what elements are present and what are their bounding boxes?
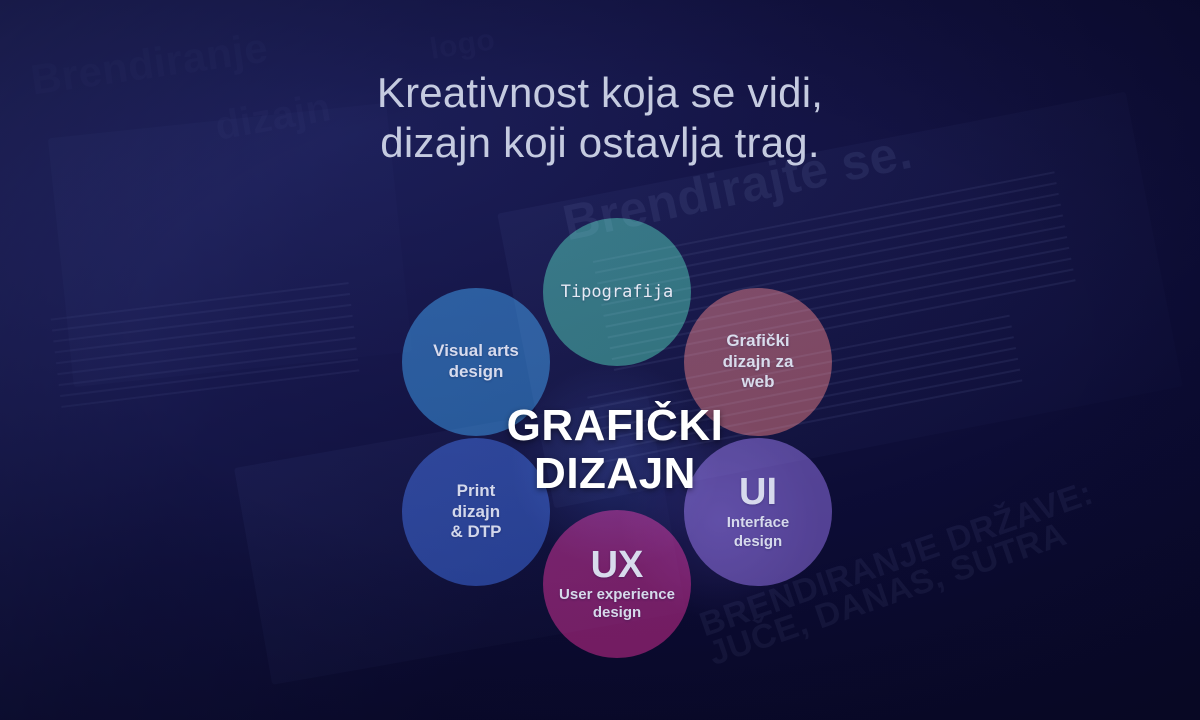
print-line-2: dizajn bbox=[452, 502, 500, 521]
venn-cluster: Visual arts design Tipografija Grafički … bbox=[390, 210, 840, 660]
print-line-3: & DTP bbox=[451, 522, 502, 541]
ux-title: UX bbox=[559, 546, 675, 584]
headline-line-1: Kreativnost koja se vidi, bbox=[0, 68, 1200, 118]
headline: Kreativnost koja se vidi, dizajn koji os… bbox=[0, 68, 1200, 167]
ux-sub-line-2: design bbox=[593, 604, 641, 621]
ui-sub-line-1: Interface bbox=[727, 514, 790, 531]
poster-canvas: Brendiranje dizajn logo Brendirajte se. … bbox=[0, 0, 1200, 720]
center-wordmark: GRAFIČKI DIZAJN bbox=[390, 402, 840, 497]
ui-sub-line-2: design bbox=[734, 533, 782, 550]
center-line-2: DIZAJN bbox=[390, 450, 840, 498]
visual-arts-line-2: design bbox=[449, 362, 504, 381]
ux-sub-line-1: User experience bbox=[559, 586, 675, 603]
web-line-3: web bbox=[741, 372, 774, 391]
bubble-visual-arts-label: Visual arts design bbox=[433, 341, 519, 382]
ux-subtitle: User experience design bbox=[559, 586, 675, 623]
bubble-tipografija-label: Tipografija bbox=[561, 282, 674, 303]
web-line-1: Grafički bbox=[726, 331, 789, 350]
visual-arts-line-1: Visual arts bbox=[433, 341, 519, 360]
bubble-ux-user-experience-design[interactable]: UX User experience design bbox=[543, 510, 691, 658]
bubble-ux-label: UX User experience design bbox=[559, 546, 675, 623]
ui-subtitle: Interface design bbox=[727, 514, 790, 551]
bubble-tipografija[interactable]: Tipografija bbox=[543, 218, 691, 366]
bubble-web-label: Grafički dizajn za web bbox=[723, 331, 794, 393]
headline-line-2: dizajn koji ostavlja trag. bbox=[0, 118, 1200, 168]
center-line-1: GRAFIČKI bbox=[390, 402, 840, 450]
web-line-2: dizajn za bbox=[723, 352, 794, 371]
